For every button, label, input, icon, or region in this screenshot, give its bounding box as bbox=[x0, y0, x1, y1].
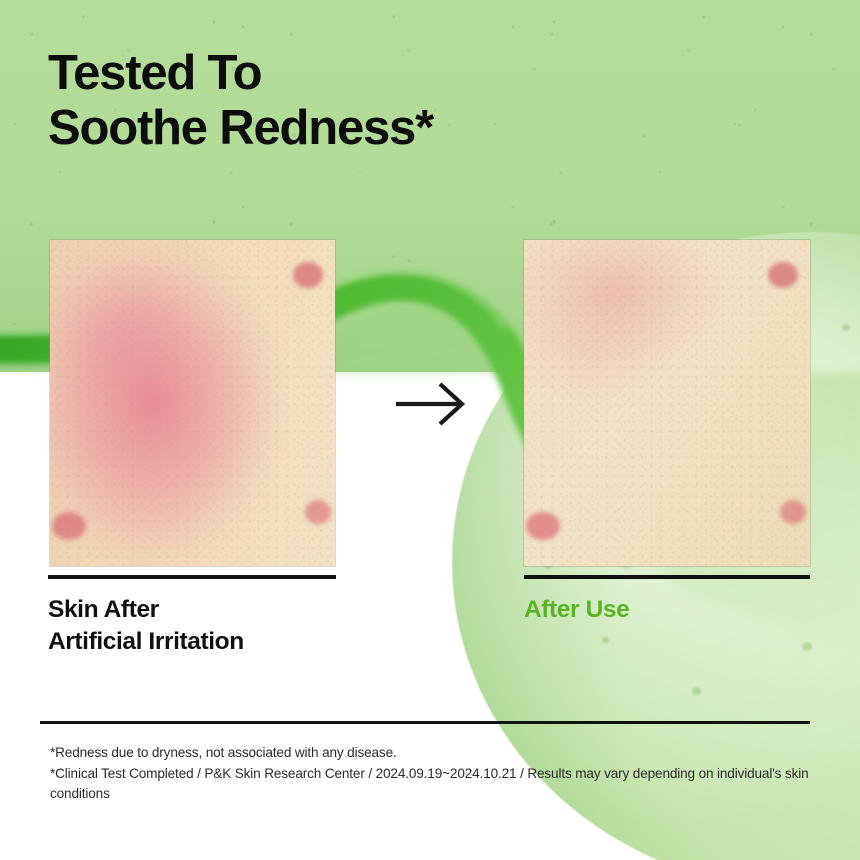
before-caption-label: Skin After Artificial Irritation bbox=[48, 594, 244, 658]
footer-divider bbox=[40, 721, 810, 724]
skin-mark-top-right bbox=[293, 262, 323, 288]
footnote-line-2: *Clinical Test Completed / P&K Skin Rese… bbox=[50, 764, 810, 805]
skin-mark-bottom-right bbox=[780, 500, 806, 524]
after-caption-label: After Use bbox=[524, 594, 629, 626]
before-photo bbox=[50, 240, 335, 566]
page-title: Tested To Soothe Redness* bbox=[48, 46, 608, 156]
after-photo bbox=[524, 240, 810, 566]
footnote-line-1: *Redness due to dryness, not associated … bbox=[50, 743, 810, 764]
skin-mark-bottom-left bbox=[52, 512, 86, 540]
skin-mark-top-right bbox=[768, 262, 798, 288]
promo-poster: Tested To Soothe Redness* Skin After Art… bbox=[0, 0, 860, 860]
after-caption-rule bbox=[524, 575, 810, 579]
skin-mark-bottom-right bbox=[305, 500, 331, 524]
before-caption-rule bbox=[48, 575, 336, 579]
skin-mark-bottom-left bbox=[526, 512, 560, 540]
skin-grain-texture bbox=[50, 240, 335, 566]
footnotes: *Redness due to dryness, not associated … bbox=[50, 743, 810, 805]
arrow-right-icon bbox=[392, 380, 472, 428]
skin-grain-texture bbox=[524, 240, 810, 566]
